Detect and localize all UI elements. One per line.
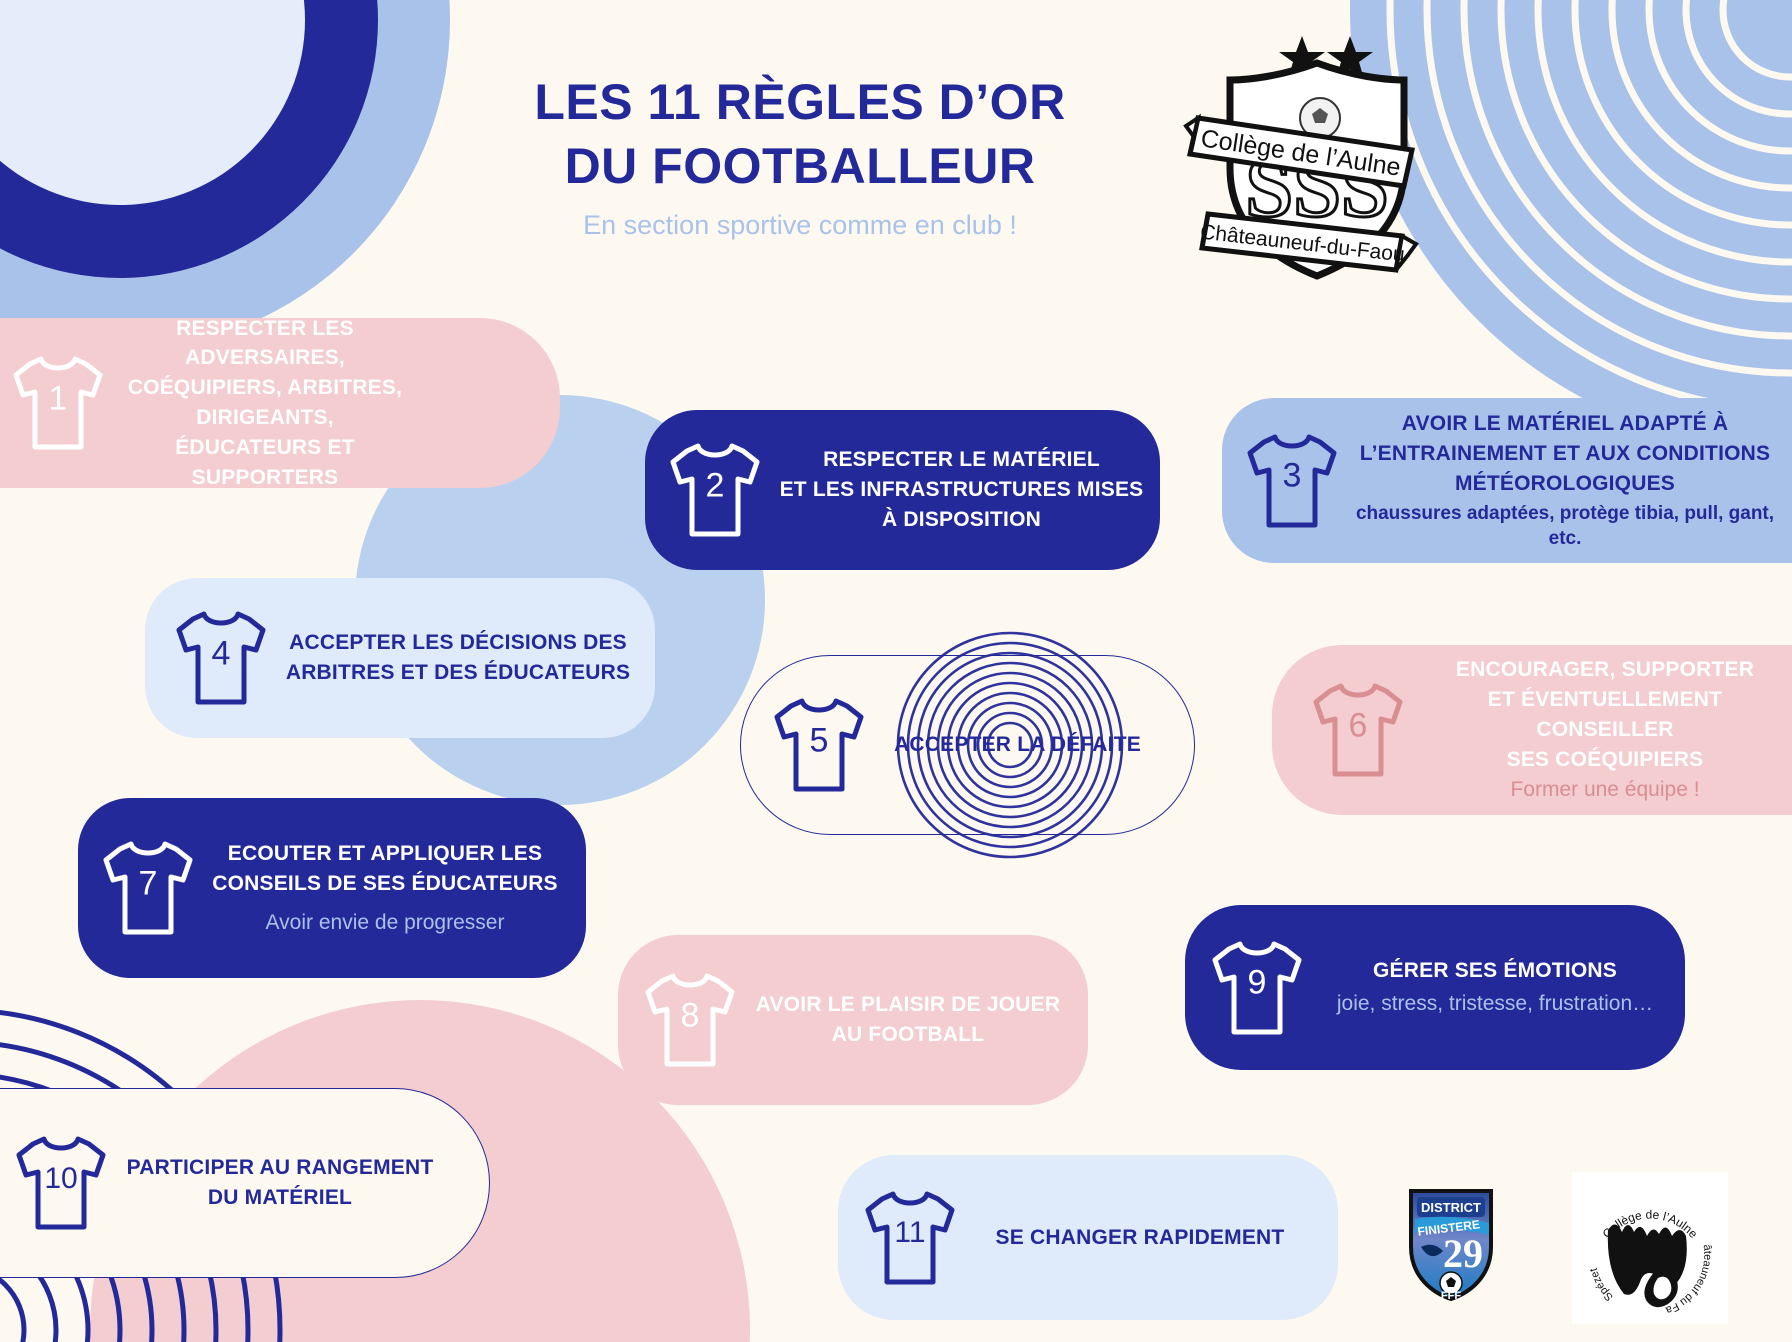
rule-card-10[interactable]: 10 PARTICIPER AU RANGEMENT DU MATÉRIEL bbox=[0, 1088, 490, 1278]
rule-headline-10-line-2: DU MATÉRIEL bbox=[123, 1183, 437, 1213]
rule-headline-3-line-3: MÉTÉOROLOGIQUES bbox=[1354, 469, 1776, 499]
page-subtitle: En section sportive comme en club ! bbox=[430, 210, 1170, 241]
jersey-icon-1: 1 bbox=[10, 351, 106, 455]
rule-headline-6-line-2: ET ÉVENTUELLEMENT CONSEILLER bbox=[1420, 685, 1790, 745]
rule-text-1: RESPECTER LES ADVERSAIRES, COÉQUIPIERS, … bbox=[106, 314, 560, 493]
rule-card-9[interactable]: 9 GÉRER SES ÉMOTIONS joie, stress, trist… bbox=[1185, 905, 1685, 1070]
rule-card-3[interactable]: 3 AVOIR LE MATÉRIEL ADAPTÉ À L’ENTRAINEM… bbox=[1222, 398, 1792, 563]
jersey-icon-5: 5 bbox=[771, 693, 867, 797]
rule-headline-2-line-3: À DISPOSITION bbox=[777, 505, 1146, 535]
rule-subtext-9: joie, stress, tristesse, frustration… bbox=[1319, 990, 1671, 1018]
rule-headline-1-line-2: COÉQUIPIERS, ARBITRES, DIRIGEANTS, bbox=[120, 373, 410, 433]
rule-number-3: 3 bbox=[1244, 457, 1340, 496]
rule-number-6: 6 bbox=[1310, 706, 1406, 745]
rule-headline-1-line-1: RESPECTER LES ADVERSAIRES, bbox=[120, 314, 410, 374]
rule-headline-8-line-1: AVOIR LE PLAISIR DE JOUER bbox=[752, 990, 1064, 1020]
rule-headline-2-line-1: RESPECTER LE MATÉRIEL bbox=[777, 445, 1146, 475]
jersey-icon-6: 6 bbox=[1310, 678, 1406, 782]
rule-headline-7-line-1: ECOUTER ET APPLIQUER LES bbox=[210, 839, 560, 869]
jersey-icon-11: 11 bbox=[862, 1186, 958, 1290]
rule-headline-4-line-2: ARBITRES ET DES ÉDUCATEURS bbox=[283, 658, 633, 688]
rule-text-10: PARTICIPER AU RANGEMENT DU MATÉRIEL bbox=[109, 1153, 489, 1213]
svg-text:DISTRICT: DISTRICT bbox=[1421, 1200, 1481, 1215]
rule-headline-3-line-2: L’ENTRAINEMENT ET AUX CONDITIONS bbox=[1354, 439, 1776, 469]
rule-card-2[interactable]: 2 RESPECTER LE MATÉRIEL ET LES INFRASTRU… bbox=[645, 410, 1160, 570]
rule-headline-3-line-1: AVOIR LE MATÉRIEL ADAPTÉ À bbox=[1354, 409, 1776, 439]
rule-text-4: ACCEPTER LES DÉCISIONS DES ARBITRES ET D… bbox=[269, 628, 655, 688]
rule-card-1[interactable]: 1 RESPECTER LES ADVERSAIRES, COÉQUIPIERS… bbox=[0, 318, 560, 488]
rule-card-11[interactable]: 11 SE CHANGER RAPIDEMENT bbox=[838, 1155, 1338, 1320]
district-finistere-fff-logo-icon: DISTRICT FINISTERE 29 FFF bbox=[1405, 1185, 1497, 1303]
rule-number-1: 1 bbox=[10, 379, 106, 418]
jersey-icon-8: 8 bbox=[642, 968, 738, 1072]
jersey-icon-10: 10 bbox=[13, 1131, 109, 1235]
rule-headline-7-line-2: CONSEILS DE SES ÉDUCATEURS bbox=[210, 869, 560, 899]
jersey-icon-2: 2 bbox=[667, 438, 763, 542]
rule-headline-1-line-3: ÉDUCATEURS ET SUPPORTERS bbox=[120, 433, 410, 493]
rule-card-8[interactable]: 8 AVOIR LE PLAISIR DE JOUER AU FOOTBALL bbox=[618, 935, 1088, 1105]
rule-headline-9-line-1: GÉRER SES ÉMOTIONS bbox=[1319, 956, 1671, 986]
rule-number-8: 8 bbox=[642, 996, 738, 1035]
rule-headline-5-line-1: ACCEPTER LA DÉFAITE bbox=[881, 730, 1154, 760]
rule-headline-10-line-1: PARTICIPER AU RANGEMENT bbox=[123, 1153, 437, 1183]
rule-card-4[interactable]: 4 ACCEPTER LES DÉCISIONS DES ARBITRES ET… bbox=[145, 578, 655, 738]
rule-card-7[interactable]: 7 ECOUTER ET APPLIQUER LES CONSEILS DE S… bbox=[78, 798, 586, 978]
rule-number-2: 2 bbox=[667, 466, 763, 505]
rule-headline-2-line-2: ET LES INFRASTRUCTURES MISES bbox=[777, 475, 1146, 505]
rule-text-2: RESPECTER LE MATÉRIEL ET LES INFRASTRUCT… bbox=[763, 445, 1160, 534]
rule-number-9: 9 bbox=[1209, 964, 1305, 1003]
rule-headline-11-line-1: SE CHANGER RAPIDEMENT bbox=[972, 1223, 1308, 1253]
jersey-icon-7: 7 bbox=[100, 836, 196, 940]
title-block: LES 11 RÈGLES D’OR DU FOOTBALLEUR En sec… bbox=[430, 70, 1170, 241]
rule-text-7: ECOUTER ET APPLIQUER LES CONSEILS DE SES… bbox=[196, 839, 586, 937]
college-aulne-round-logo-icon: Collège de l’Aulne Châteauneuf du Faou S… bbox=[1572, 1172, 1728, 1324]
rule-subtext-3: chaussures adaptées, protège tibia, pull… bbox=[1354, 501, 1776, 552]
rule-text-11: SE CHANGER RAPIDEMENT bbox=[958, 1223, 1338, 1253]
rule-headline-8-line-2: AU FOOTBALL bbox=[752, 1020, 1064, 1050]
rule-headline-6-line-3: SES COÉQUIPIERS bbox=[1420, 745, 1790, 775]
rule-text-9: GÉRER SES ÉMOTIONS joie, stress, tristes… bbox=[1305, 956, 1685, 1018]
poster-header: LES 11 RÈGLES D’OR DU FOOTBALLEUR En sec… bbox=[0, 0, 1792, 300]
rule-headline-6-line-1: ENCOURAGER, SUPPORTER bbox=[1420, 655, 1790, 685]
rule-card-5[interactable]: 5 ACCEPTER LA DÉFAITE bbox=[740, 655, 1195, 835]
svg-text:FFF: FFF bbox=[1441, 1290, 1461, 1302]
rule-text-3: AVOIR LE MATÉRIEL ADAPTÉ À L’ENTRAINEMEN… bbox=[1340, 409, 1792, 552]
rule-subtext-7: Avoir envie de progresser bbox=[210, 909, 560, 937]
rule-headline-4-line-1: ACCEPTER LES DÉCISIONS DES bbox=[283, 628, 633, 658]
rule-text-6: ENCOURAGER, SUPPORTER ET ÉVENTUELLEMENT … bbox=[1406, 655, 1792, 805]
page-title-line-1: LES 11 RÈGLES D’OR bbox=[430, 70, 1170, 134]
jersey-icon-4: 4 bbox=[173, 606, 269, 710]
college-aulne-crest-icon: SSS Collège de l’Aulne Châteauneuf-du-Fa… bbox=[1172, 18, 1422, 283]
rule-number-7: 7 bbox=[100, 864, 196, 903]
infographic-poster: LES 11 RÈGLES D’OR DU FOOTBALLEUR En sec… bbox=[0, 0, 1792, 1342]
jersey-icon-9: 9 bbox=[1209, 936, 1305, 1040]
page-title-line-2: DU FOOTBALLEUR bbox=[430, 134, 1170, 198]
jersey-icon-3: 3 bbox=[1244, 429, 1340, 533]
rule-number-10: 10 bbox=[13, 1162, 109, 1196]
rule-number-5: 5 bbox=[771, 721, 867, 760]
rule-card-6[interactable]: 6 ENCOURAGER, SUPPORTER ET ÉVENTUELLEMEN… bbox=[1272, 645, 1792, 815]
rule-number-11: 11 bbox=[862, 1216, 958, 1250]
rule-number-4: 4 bbox=[173, 634, 269, 673]
svg-text:29: 29 bbox=[1443, 1231, 1483, 1276]
rule-text-5: ACCEPTER LA DÉFAITE bbox=[867, 730, 1194, 760]
rule-subtext-6: Former une équipe ! bbox=[1420, 776, 1790, 804]
rule-text-8: AVOIR LE PLAISIR DE JOUER AU FOOTBALL bbox=[738, 990, 1088, 1050]
